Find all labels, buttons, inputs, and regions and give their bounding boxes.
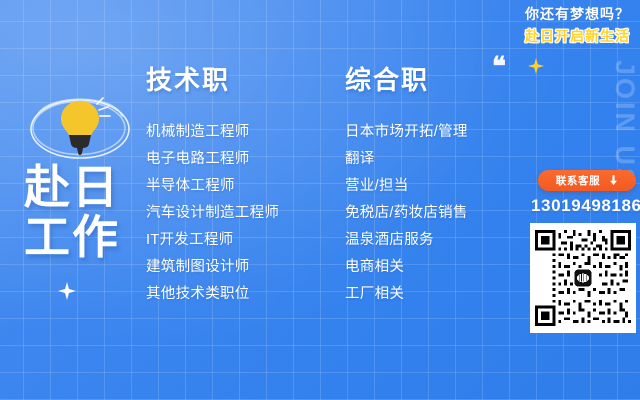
job-list-tech: 机械制造工程师 电子电路工程师 半导体工程师 汽车设计制造工程师 IT开发工程师… bbox=[146, 125, 279, 302]
list-item: IT开发工程师 bbox=[146, 233, 279, 248]
page-title: 赴日 工作 bbox=[24, 163, 120, 262]
list-item: 电商相关 bbox=[345, 260, 468, 275]
white-sparkle-icon bbox=[58, 282, 76, 300]
page-title-line-2: 工作 bbox=[24, 213, 120, 263]
column-general-jobs: 综合职 日本市场开拓/管理 翻译 营业/担当 免税店/药妆店销售 温泉酒店服务 … bbox=[345, 60, 468, 314]
list-item: 建筑制图设计师 bbox=[146, 260, 279, 275]
poster-canvas: JOIN US 你还有梦想吗？ 赴日开启新生活 ❝ 赴日 工作 bbox=[0, 0, 640, 400]
slogan-block: 你还有梦想吗？ 赴日开启新生活 bbox=[525, 4, 630, 47]
list-item: 半导体工程师 bbox=[146, 179, 279, 194]
list-item: 营业/担当 bbox=[345, 179, 468, 194]
list-item: 日本市场开拓/管理 bbox=[345, 125, 468, 140]
qr-code-image bbox=[535, 228, 631, 328]
list-item: 工厂相关 bbox=[345, 287, 468, 302]
contact-support-button[interactable]: 联系客服 bbox=[538, 170, 636, 191]
lightbulb-icon bbox=[22, 82, 138, 170]
list-item: 免税店/药妆店销售 bbox=[345, 206, 468, 221]
slogan-line-1: 你还有梦想吗？ bbox=[525, 4, 630, 26]
job-list-general: 日本市场开拓/管理 翻译 营业/担当 免税店/药妆店销售 温泉酒店服务 电商相关… bbox=[345, 125, 468, 302]
list-item: 温泉酒店服务 bbox=[345, 233, 468, 248]
yellow-sparkle-icon bbox=[528, 58, 544, 74]
list-item: 机械制造工程师 bbox=[146, 125, 279, 140]
arrow-down-icon bbox=[609, 175, 618, 186]
page-title-line-1: 赴日 bbox=[24, 163, 120, 213]
column-heading-tech: 技术职 bbox=[146, 60, 279, 97]
qr-code[interactable] bbox=[530, 223, 636, 333]
list-item: 电子电路工程师 bbox=[146, 152, 279, 167]
column-tech-jobs: 技术职 机械制造工程师 电子电路工程师 半导体工程师 汽车设计制造工程师 IT开… bbox=[146, 60, 279, 314]
list-item: 其他技术类职位 bbox=[146, 287, 279, 302]
quote-mark-icon: ❝ bbox=[492, 54, 506, 80]
list-item: 汽车设计制造工程师 bbox=[146, 206, 279, 221]
contact-support-label: 联系客服 bbox=[556, 173, 600, 188]
list-item: 翻译 bbox=[345, 152, 468, 167]
column-heading-general: 综合职 bbox=[345, 60, 468, 97]
slogan-line-2: 赴日开启新生活 bbox=[525, 26, 630, 48]
phone-number: 13019498186 bbox=[531, 196, 637, 216]
